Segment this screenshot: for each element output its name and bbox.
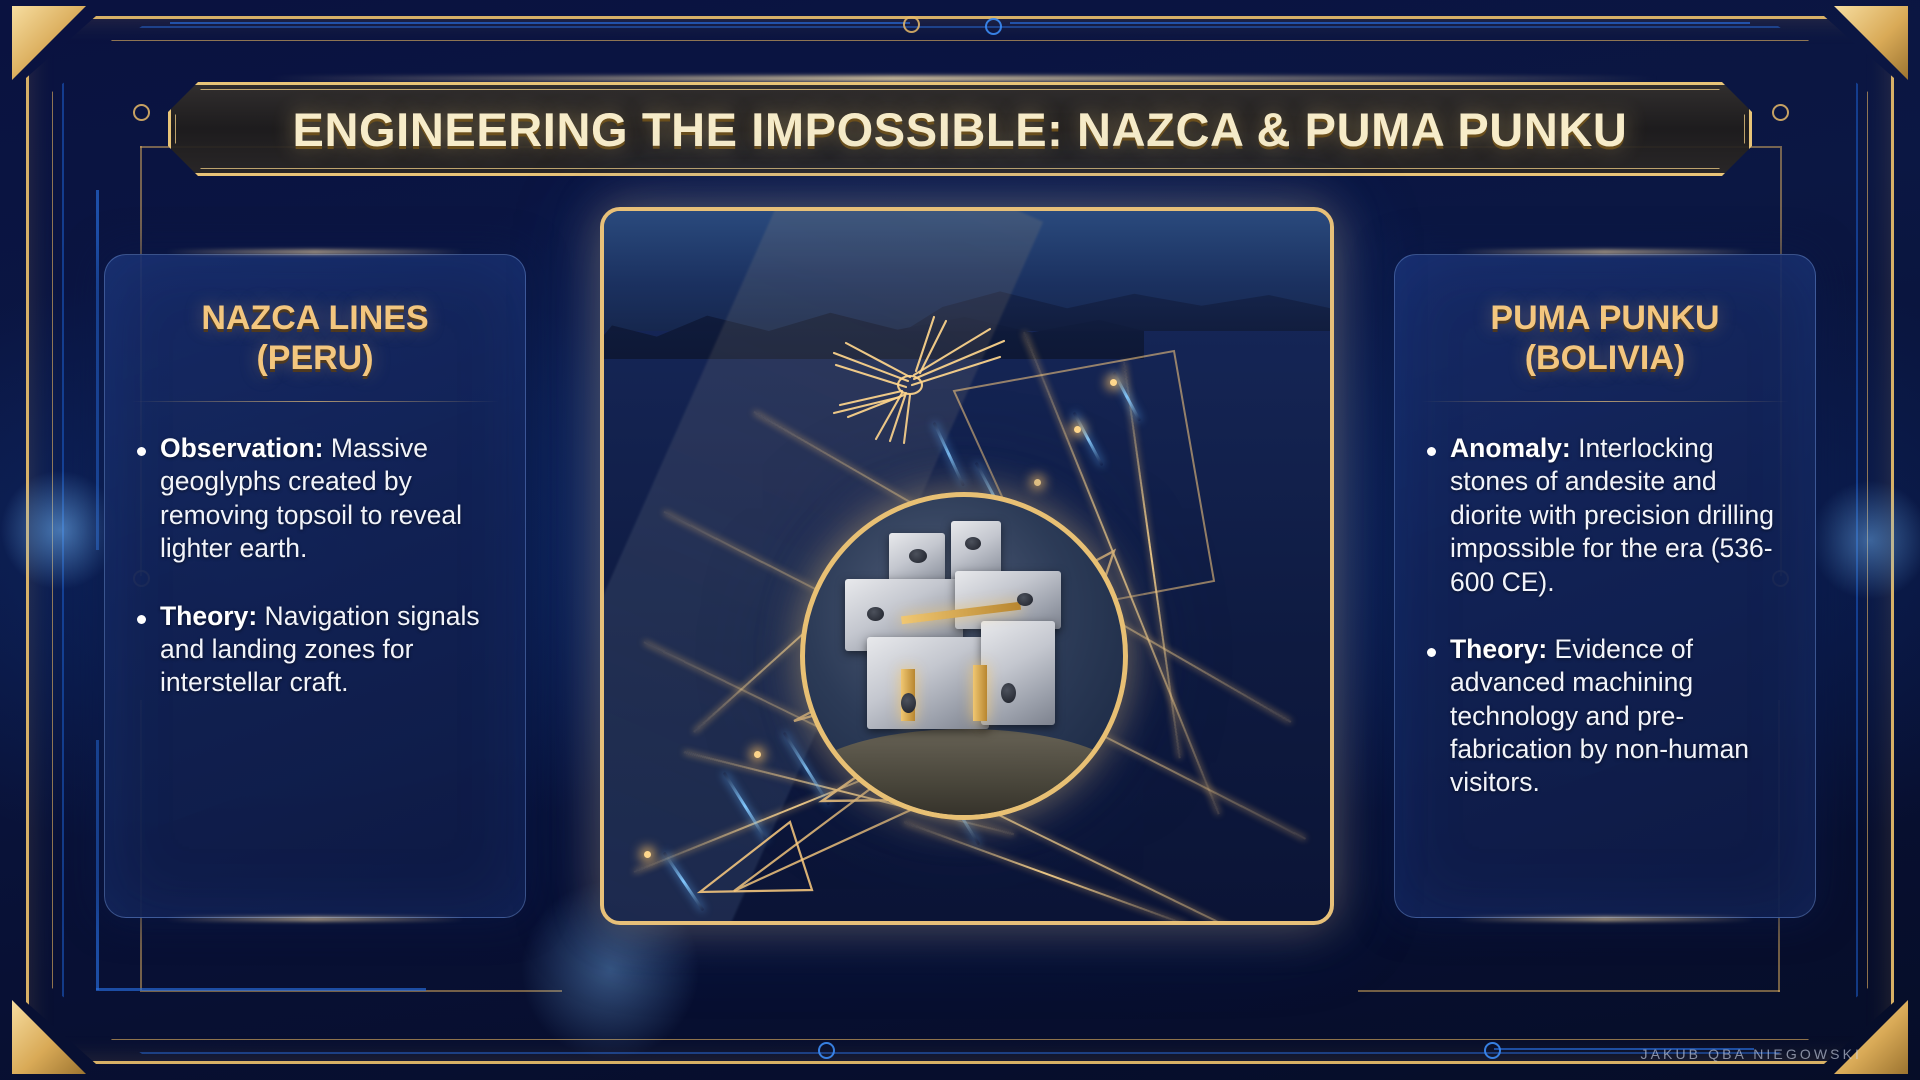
circuit-trace-blue [1010,22,1750,24]
card-heading-line1: PUMA PUNKU [1421,299,1789,339]
list-item: Observation: Massive geoglyphs created b… [131,432,497,566]
title-banner: ENGINEERING THE IMPOSSIBLE: NAZCA & PUMA… [168,82,1752,176]
list-item: Anomaly: Interlocking stones of andesite… [1421,432,1787,599]
circuit-node-icon [903,16,920,33]
circuit-trace-blue [96,190,99,550]
drill-hole-icon [965,537,981,550]
circuit-node-icon [1484,1042,1501,1059]
card-top-glow [1455,250,1755,254]
light-spark [644,851,651,858]
card-heading-line2: (PERU) [131,339,499,379]
h-block-stone-icon [981,621,1055,725]
hummingbird-geoglyph-icon [794,301,1044,461]
card-bottom-glow [165,917,465,921]
bullet-label: Anomaly: [1450,433,1571,463]
card-nazca-lines: NAZCA LINES (PERU) Observation: Massive … [104,254,526,918]
circuit-node-icon [1772,104,1789,121]
bullet-label: Observation: [160,433,323,463]
card-divider [131,401,499,403]
circuit-trace [1358,990,1780,992]
bullet-list-nazca: Observation: Massive geoglyphs created b… [131,432,497,700]
drill-hole-icon [909,549,927,563]
bullet-label: Theory: [160,601,257,631]
drill-hole-icon [901,693,916,713]
title-glow [268,76,1658,81]
circuit-trace-blue [170,22,910,24]
gold-seam [973,665,987,721]
card-heading-line2: (BOLIVIA) [1421,339,1789,379]
circuit-node-icon [985,18,1002,35]
card-bottom-glow [1455,917,1755,921]
bullet-list-puma: Anomaly: Interlocking stones of andesite… [1421,432,1787,800]
list-item: Theory: Evidence of advanced machining t… [1421,633,1787,800]
list-item: Theory: Navigation signals and landing z… [131,600,497,700]
desert-sand [800,729,1128,820]
bullet-label: Theory: [1450,634,1547,664]
card-heading-line1: NAZCA LINES [131,299,499,339]
circuit-trace-blue [96,988,426,991]
bullet-dot-icon [137,615,146,624]
watermark: JAKUB QBA NIEGOWSKI [1641,1046,1863,1062]
inset-image-puma-punku-stone [800,492,1128,820]
h-block-stone-icon [867,637,989,729]
circuit-node-icon [133,104,150,121]
drill-hole-icon [1017,593,1033,606]
bullet-dot-icon [137,447,146,456]
bullet-dot-icon [1427,447,1436,456]
circuit-node-icon [818,1042,835,1059]
page-title: ENGINEERING THE IMPOSSIBLE: NAZCA & PUMA… [168,82,1752,176]
drill-hole-icon [867,607,884,621]
card-divider [1421,401,1789,403]
card-puma-punku: PUMA PUNKU (BOLIVIA) Anomaly: Interlocki… [1394,254,1816,918]
bullet-dot-icon [1427,648,1436,657]
infographic-slide: ENGINEERING THE IMPOSSIBLE: NAZCA & PUMA… [0,0,1920,1080]
card-heading-nazca: NAZCA LINES (PERU) [131,299,499,379]
card-heading-puma: PUMA PUNKU (BOLIVIA) [1421,299,1789,379]
triangle-geoglyph-icon [694,806,824,906]
circuit-trace-blue [96,740,99,990]
drill-hole-icon [1001,683,1016,703]
card-top-glow [165,250,465,254]
